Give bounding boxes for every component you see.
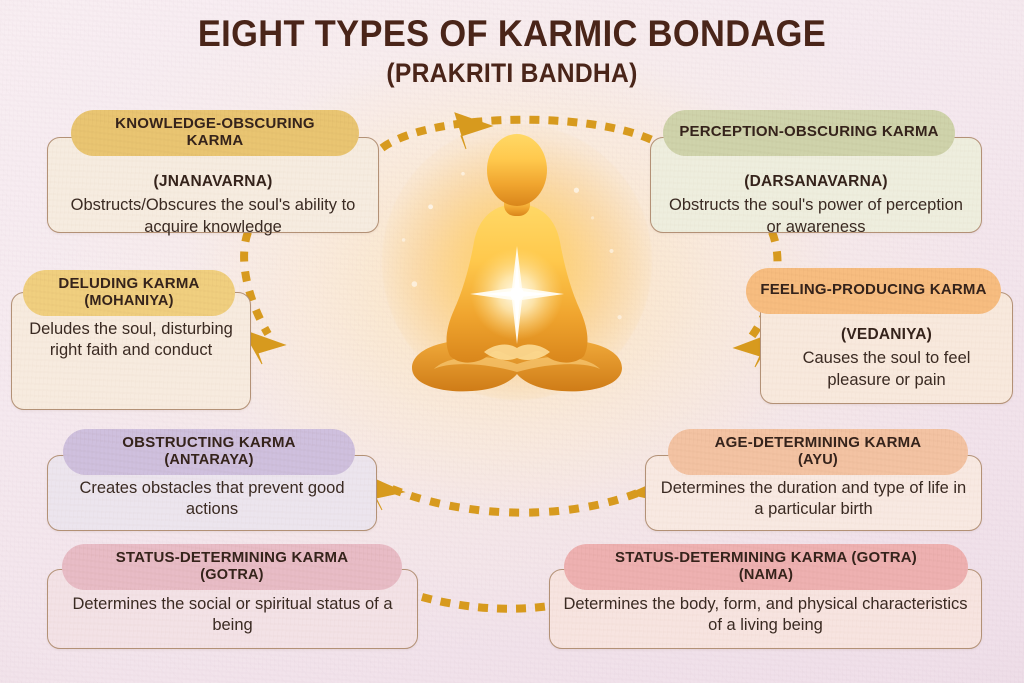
card-age-determining-karma-header[interactable]: AGE-DETERMINING KARMA (AYU) <box>668 429 968 475</box>
card-deluding-karma-title: DELUDING KARMA <box>58 276 199 293</box>
card-feeling-producing-karma-body: (VEDANIYA) Causes the soul to feel pleas… <box>761 325 1012 391</box>
card-feeling-producing-karma-sanskrit: (VEDANIYA) <box>773 325 1000 345</box>
card-deluding-karma-sanskrit: (MOHANIYA) <box>84 293 173 309</box>
card-obstructing-karma-header[interactable]: OBSTRUCTING KARMA (ANTARAYA) <box>63 429 355 475</box>
card-age-determining-karma-sanskrit: (AYU) <box>798 452 838 468</box>
lotus-meditation-silhouette-icon <box>372 118 662 410</box>
card-knowledge-obscuring-karma-title: KNOWLEDGE-OBSCURING KARMA <box>85 116 345 150</box>
card-age-determining-karma-body: Determines the duration and type of life… <box>646 478 981 521</box>
card-feeling-producing-karma-description: Causes the soul to feel pleasure or pain <box>803 349 971 388</box>
card-feeling-producing-karma-title: FEELING-PRODUCING KARMA <box>760 282 986 299</box>
card-obstructing-karma-description: Creates obstacles that prevent good acti… <box>79 479 344 518</box>
card-deluding-karma-header[interactable]: DELUDING KARMA (MOHANIYA) <box>23 270 235 316</box>
card-body-determining-karma-nama-sanskrit: (NAMA) <box>739 567 793 583</box>
card-knowledge-obscuring-karma-description: Obstructs/Obscures the soul's ability to… <box>71 196 356 235</box>
card-knowledge-obscuring-karma-sanskrit: (JNANAVARNA) <box>60 172 366 192</box>
card-knowledge-obscuring-karma-body: (JNANAVARNA) Obstructs/Obscures the soul… <box>48 172 378 238</box>
card-knowledge-obscuring-karma-header[interactable]: KNOWLEDGE-OBSCURING KARMA <box>71 110 359 156</box>
card-feeling-producing-karma-header[interactable]: FEELING-PRODUCING KARMA <box>746 268 1001 314</box>
card-status-determining-karma-gotra-body: Determines the social or spiritual statu… <box>48 594 417 637</box>
meditating-figure-illustration <box>372 118 662 410</box>
card-deluding-karma-body: Deludes the soul, disturbing right faith… <box>12 319 250 362</box>
card-obstructing-karma-title: OBSTRUCTING KARMA <box>122 435 295 452</box>
arrow-bottom-arc <box>422 597 562 609</box>
infographic-canvas: EIGHT TYPES OF KARMIC BONDAGE (PRAKRITI … <box>0 0 1024 683</box>
card-perception-obscuring-karma-title: PERCEPTION-OBSCURING KARMA <box>679 124 938 141</box>
card-status-determining-karma-gotra-title: STATUS-DETERMINING KARMA <box>116 550 349 567</box>
card-status-determining-karma-gotra-sanskrit: (GOTRA) <box>200 567 263 583</box>
card-perception-obscuring-karma-description: Obstructs the soul's power of perception… <box>669 196 963 235</box>
card-perception-obscuring-karma-sanskrit: (DARSANAVARNA) <box>663 172 969 192</box>
card-obstructing-karma-body: Creates obstacles that prevent good acti… <box>48 478 376 521</box>
card-perception-obscuring-karma-body: (DARSANAVARNA) Obstructs the soul's powe… <box>651 172 981 238</box>
title-subtitle-text: (PRAKRITI BANDHA) <box>36 58 988 89</box>
card-status-determining-karma-gotra-description: Determines the social or spiritual statu… <box>72 595 392 634</box>
page-title: EIGHT TYPES OF KARMIC BONDAGE (PRAKRITI … <box>0 14 1024 89</box>
card-body-determining-karma-nama-header[interactable]: STATUS-DETERMINING KARMA (GOTRA) (NAMA) <box>564 544 968 590</box>
card-body-determining-karma-nama-body: Determines the body, form, and physical … <box>550 594 981 637</box>
card-deluding-karma-description: Deludes the soul, disturbing right faith… <box>29 320 233 359</box>
card-age-determining-karma-title: AGE-DETERMINING KARMA <box>715 435 922 452</box>
card-perception-obscuring-karma-header[interactable]: PERCEPTION-OBSCURING KARMA <box>663 110 955 156</box>
arrow-middle-arc <box>392 489 640 513</box>
card-body-determining-karma-nama-description: Determines the body, form, and physical … <box>563 595 967 634</box>
card-age-determining-karma-description: Determines the duration and type of life… <box>661 479 966 518</box>
card-status-determining-karma-gotra-header[interactable]: STATUS-DETERMINING KARMA (GOTRA) <box>62 544 402 590</box>
card-obstructing-karma-sanskrit: (ANTARAYA) <box>164 452 253 468</box>
card-body-determining-karma-nama-title: STATUS-DETERMINING KARMA (GOTRA) <box>615 550 917 567</box>
title-main-text: EIGHT TYPES OF KARMIC BONDAGE <box>36 14 988 54</box>
